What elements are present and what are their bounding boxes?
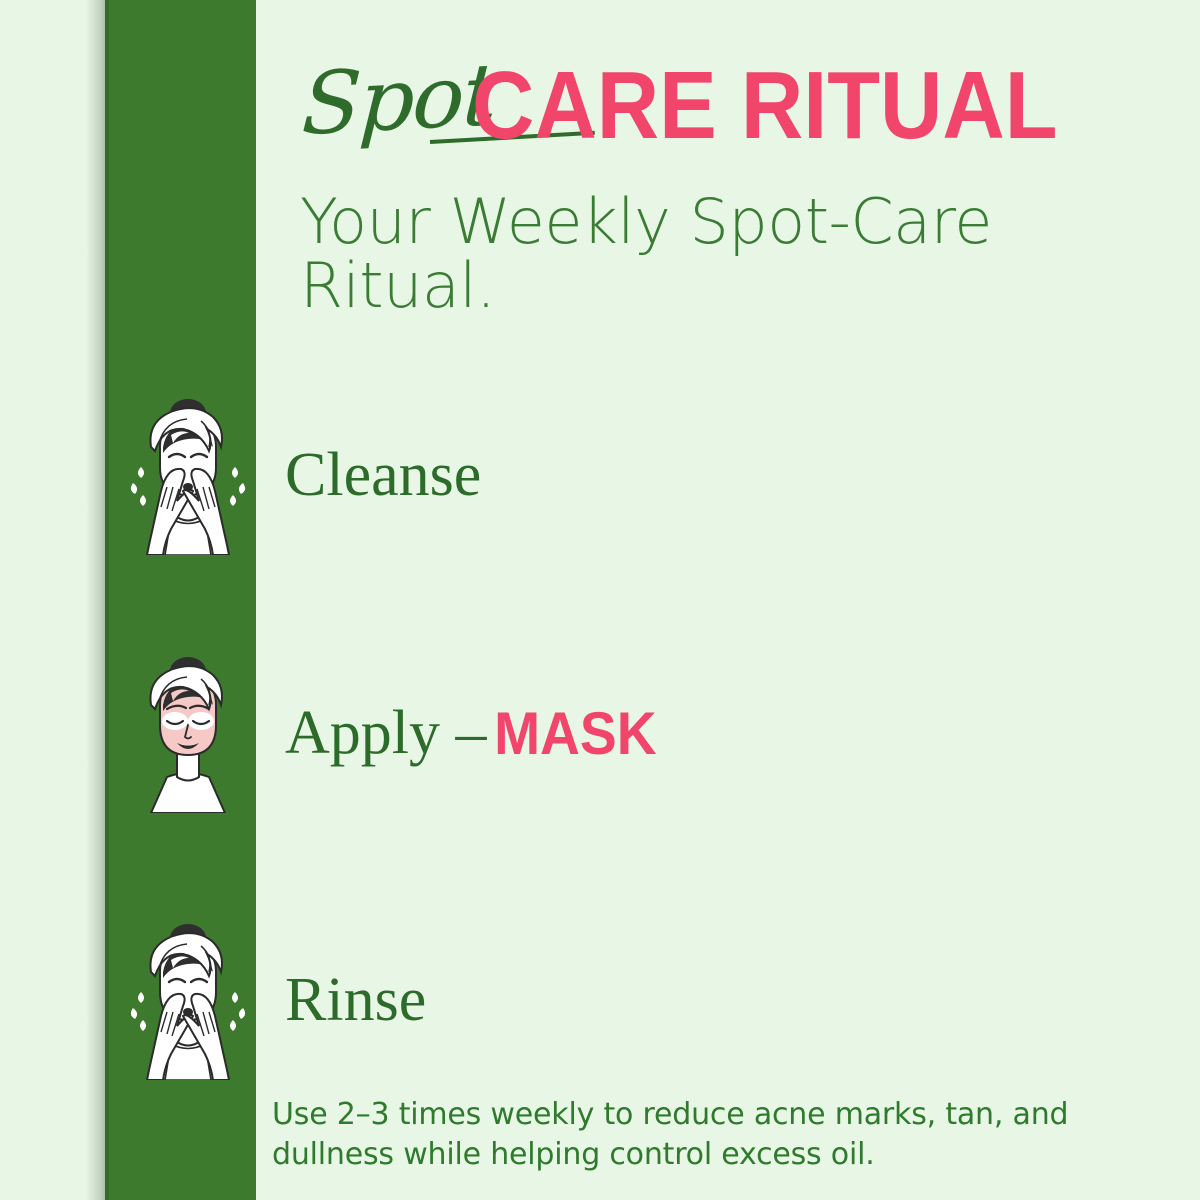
- step-label-rinse: Rinse: [285, 920, 426, 1080]
- step-label-accent: MASK: [494, 699, 657, 768]
- step-label-apply: Apply – MASK: [285, 653, 663, 813]
- title-bold-text: CARE RITUAL: [472, 56, 1058, 157]
- ritual-step-apply-mask: Apply – MASK: [0, 653, 1200, 813]
- ritual-step-cleanse: Cleanse: [0, 395, 1200, 555]
- face-mask-icon: [125, 653, 251, 813]
- step-label-text: Apply –: [285, 698, 487, 769]
- step-label-cleanse: Cleanse: [285, 395, 481, 555]
- title-script-word: Spot: [300, 52, 498, 148]
- step-label-text: Rinse: [285, 965, 426, 1036]
- page-subtitle: Your Weekly Spot-Care Ritual.: [300, 190, 1040, 319]
- poster-canvas: Spot CARE RITUAL Your Weekly Spot-Care R…: [0, 0, 1200, 1200]
- page-title: Spot CARE RITUAL: [300, 56, 1000, 176]
- ritual-step-rinse: Rinse: [0, 920, 1200, 1080]
- face-washing-icon: [125, 395, 251, 555]
- step-label-text: Cleanse: [285, 440, 481, 511]
- title-bold-word: CARE RITUAL: [472, 56, 1058, 157]
- face-rinsing-icon: [125, 920, 251, 1080]
- usage-note: Use 2–3 times weekly to reduce acne mark…: [272, 1095, 1152, 1174]
